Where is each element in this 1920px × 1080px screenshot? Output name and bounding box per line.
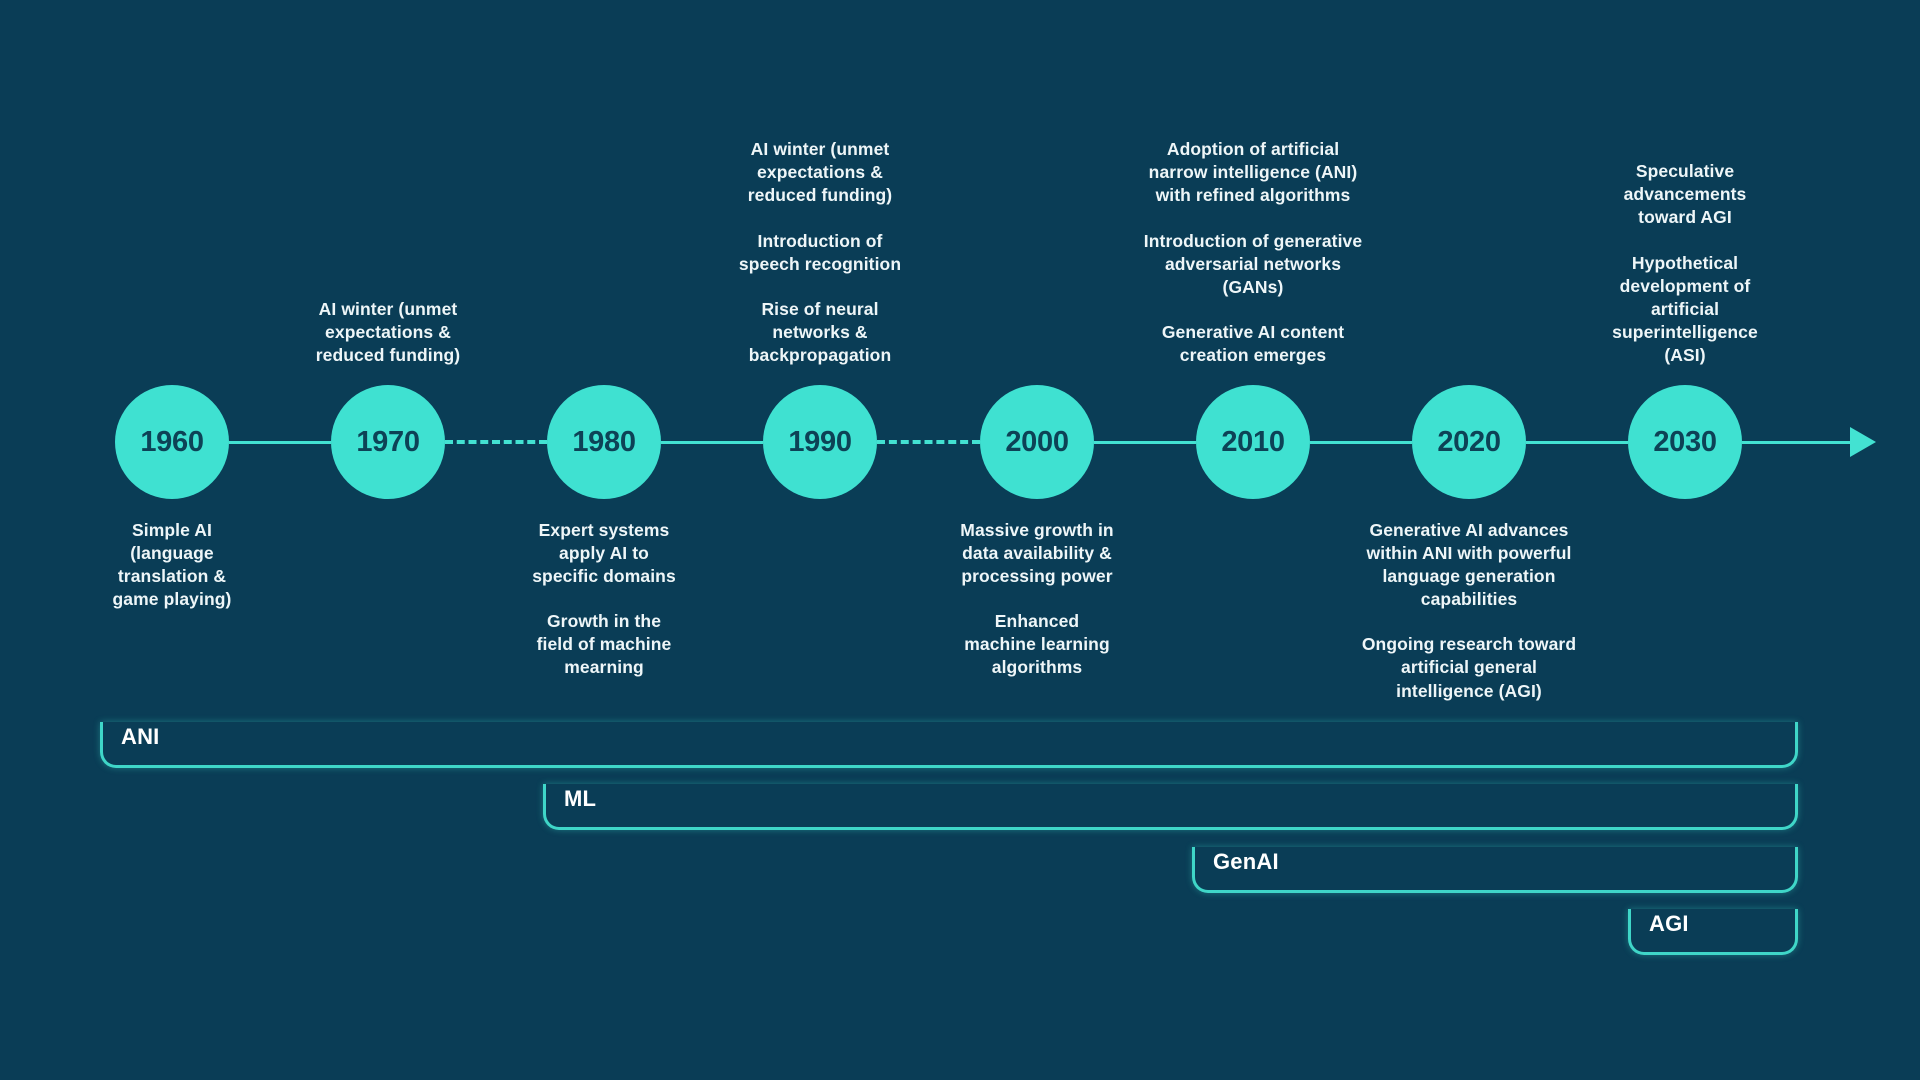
annotation-line: field of machine xyxy=(454,633,754,656)
annotation-line: expectations & xyxy=(670,161,970,184)
bracket-label-genai: GenAI xyxy=(1213,849,1279,875)
annotation-line: creation emerges xyxy=(1103,344,1403,367)
timeline-node-2030[interactable]: 2030 xyxy=(1628,385,1742,499)
connector-2020-2030 xyxy=(1526,441,1628,444)
node-year-label: 2010 xyxy=(1221,428,1284,457)
annotation-line: apply AI to xyxy=(454,542,754,565)
timeline-node-1970[interactable]: 1970 xyxy=(331,385,445,499)
timeline-node-1980[interactable]: 1980 xyxy=(547,385,661,499)
timeline-node-2020[interactable]: 2020 xyxy=(1412,385,1526,499)
node-year-label: 1970 xyxy=(356,428,419,457)
connector-2010-2020 xyxy=(1310,441,1412,444)
annotation-line: intelligence (AGI) xyxy=(1319,680,1619,703)
annotation-line: Growth in the xyxy=(454,610,754,633)
annotation-block: Growth in thefield of machinemearning xyxy=(454,610,754,679)
annotation-line: Introduction of generative xyxy=(1103,230,1403,253)
annotation-below-2000: Massive growth indata availability &proc… xyxy=(887,519,1187,680)
bracket-label-agi: AGI xyxy=(1649,911,1689,937)
annotation-above-2010: Adoption of artificialnarrow intelligenc… xyxy=(1103,138,1403,367)
annotation-line: language generation xyxy=(1319,565,1619,588)
node-year-label: 2000 xyxy=(1005,428,1068,457)
annotation-line: expectations & xyxy=(238,321,538,344)
annotation-block: Massive growth indata availability &proc… xyxy=(887,519,1187,588)
annotation-line: machine learning xyxy=(887,633,1187,656)
annotation-line: Generative AI content xyxy=(1103,321,1403,344)
timeline-node-2010[interactable]: 2010 xyxy=(1196,385,1310,499)
annotation-line: Adoption of artificial xyxy=(1103,138,1403,161)
annotation-below-2020: Generative AI advanceswithin ANI with po… xyxy=(1319,519,1619,703)
annotation-line: within ANI with powerful xyxy=(1319,542,1619,565)
annotation-line: AI winter (unmet xyxy=(670,138,970,161)
annotation-below-1960: Simple AI(languagetranslation &game play… xyxy=(22,519,322,611)
annotation-line: reduced funding) xyxy=(670,184,970,207)
annotation-line: algorithms xyxy=(887,656,1187,679)
annotation-above-2030: Speculativeadvancementstoward AGIHypothe… xyxy=(1535,160,1835,367)
node-year-label: 2020 xyxy=(1437,428,1500,457)
bracket-label-ani: ANI xyxy=(121,724,160,750)
annotation-below-1980: Expert systemsapply AI tospecific domain… xyxy=(454,519,754,680)
bracket-agi[interactable]: AGI xyxy=(1628,909,1798,955)
annotation-line: Introduction of xyxy=(670,230,970,253)
annotation-line: Generative AI advances xyxy=(1319,519,1619,542)
axis-tail xyxy=(1742,441,1854,444)
annotation-line: specific domains xyxy=(454,565,754,588)
annotation-line: data availability & xyxy=(887,542,1187,565)
bracket-label-ml: ML xyxy=(564,786,596,812)
connector-1990-2000 xyxy=(877,440,980,444)
annotation-line: toward AGI xyxy=(1535,206,1835,229)
annotation-block: Introduction of generativeadversarial ne… xyxy=(1103,230,1403,299)
connector-1960-1970 xyxy=(229,441,331,444)
node-year-label: 2030 xyxy=(1653,428,1716,457)
annotation-block: Generative AI contentcreation emerges xyxy=(1103,321,1403,367)
annotation-line: with refined algorithms xyxy=(1103,184,1403,207)
bracket-ani[interactable]: ANI xyxy=(100,722,1798,768)
annotation-block: Enhancedmachine learningalgorithms xyxy=(887,610,1187,679)
annotation-line: Ongoing research toward xyxy=(1319,633,1619,656)
annotation-block: Rise of neuralnetworks &backpropagation xyxy=(670,298,970,367)
annotation-line: translation & xyxy=(22,565,322,588)
annotation-line: (GANs) xyxy=(1103,276,1403,299)
annotation-block: AI winter (unmetexpectations &reduced fu… xyxy=(670,138,970,207)
annotation-line: artificial general xyxy=(1319,656,1619,679)
timeline-node-1960[interactable]: 1960 xyxy=(115,385,229,499)
annotation-above-1970: AI winter (unmetexpectations &reduced fu… xyxy=(238,298,538,367)
node-year-label: 1960 xyxy=(140,428,203,457)
timeline-node-1990[interactable]: 1990 xyxy=(763,385,877,499)
connector-1970-1980 xyxy=(445,440,547,444)
annotation-line: backpropagation xyxy=(670,344,970,367)
annotation-line: adversarial networks xyxy=(1103,253,1403,276)
annotation-line: artificial xyxy=(1535,298,1835,321)
annotation-line: speech recognition xyxy=(670,253,970,276)
annotation-line: capabilities xyxy=(1319,588,1619,611)
annotation-block: Generative AI advanceswithin ANI with po… xyxy=(1319,519,1619,611)
timeline-node-2000[interactable]: 2000 xyxy=(980,385,1094,499)
annotation-block: Speculativeadvancementstoward AGI xyxy=(1535,160,1835,229)
annotation-line: Massive growth in xyxy=(887,519,1187,542)
annotation-line: narrow intelligence (ANI) xyxy=(1103,161,1403,184)
annotation-line: mearning xyxy=(454,656,754,679)
annotation-line: Enhanced xyxy=(887,610,1187,633)
bracket-ml[interactable]: ML xyxy=(543,784,1798,830)
connector-2000-2010 xyxy=(1094,441,1196,444)
arrow-head-icon xyxy=(1850,427,1876,457)
annotation-line: Speculative xyxy=(1535,160,1835,183)
node-year-label: 1990 xyxy=(788,428,851,457)
annotation-line: Simple AI xyxy=(22,519,322,542)
annotation-block: Simple AI(languagetranslation &game play… xyxy=(22,519,322,611)
annotation-line: reduced funding) xyxy=(238,344,538,367)
annotation-above-1990: AI winter (unmetexpectations &reduced fu… xyxy=(670,138,970,367)
annotation-block: Ongoing research towardartificial genera… xyxy=(1319,633,1619,702)
annotation-line: processing power xyxy=(887,565,1187,588)
bracket-genai[interactable]: GenAI xyxy=(1192,847,1798,893)
annotation-line: AI winter (unmet xyxy=(238,298,538,321)
annotation-block: Adoption of artificialnarrow intelligenc… xyxy=(1103,138,1403,207)
annotation-block: Expert systemsapply AI tospecific domain… xyxy=(454,519,754,588)
timeline-diagram: 19601970198019902000201020202030 Simple … xyxy=(0,0,1920,1080)
node-year-label: 1980 xyxy=(572,428,635,457)
annotation-block: Hypotheticaldevelopment ofartificialsupe… xyxy=(1535,252,1835,367)
annotation-line: Rise of neural xyxy=(670,298,970,321)
annotation-line: game playing) xyxy=(22,588,322,611)
annotation-line: superintelligence xyxy=(1535,321,1835,344)
annotation-line: advancements xyxy=(1535,183,1835,206)
annotation-line: (ASI) xyxy=(1535,344,1835,367)
annotation-line: Expert systems xyxy=(454,519,754,542)
annotation-block: Introduction ofspeech recognition xyxy=(670,230,970,276)
annotation-line: Hypothetical xyxy=(1535,252,1835,275)
connector-1980-1990 xyxy=(661,441,763,444)
annotation-block: AI winter (unmetexpectations &reduced fu… xyxy=(238,298,538,367)
annotation-line: development of xyxy=(1535,275,1835,298)
annotation-line: networks & xyxy=(670,321,970,344)
annotation-line: (language xyxy=(22,542,322,565)
